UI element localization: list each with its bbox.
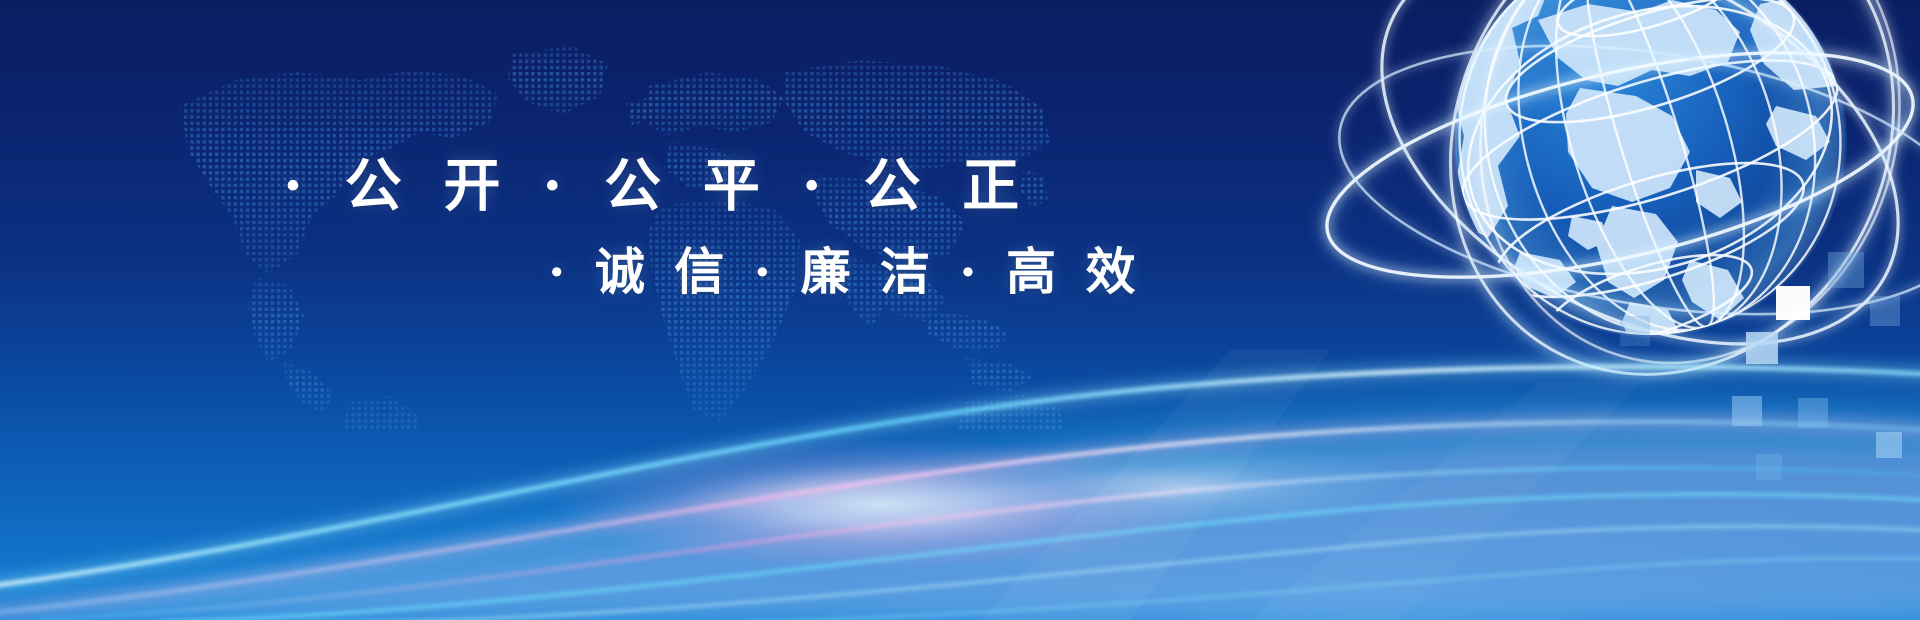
slogan-block: · 公 开 · 公 平 · 公 正 · 诚 信 · 廉 洁 · 高 效: [0, 0, 1160, 400]
slogan-line-2: · 诚 信 · 廉 洁 · 高 效: [548, 232, 1141, 304]
hero-banner: · 公 开 · 公 平 · 公 正 · 诚 信 · 廉 洁 · 高 效: [0, 0, 1920, 620]
square-7: [1876, 432, 1902, 458]
square-3: [1828, 252, 1864, 288]
wireframe-globe: [1220, 0, 1920, 490]
slogan-line-1: · 公 开 · 公 平 · 公 正: [283, 140, 1030, 222]
square-5: [1732, 396, 1762, 426]
square-4: [1870, 296, 1900, 326]
square-9: [1620, 316, 1650, 346]
square-2: [1746, 332, 1778, 364]
pixel-squares-decoration: [1580, 250, 1920, 480]
square-1: [1776, 286, 1810, 320]
square-8: [1756, 454, 1782, 480]
square-6: [1798, 398, 1828, 428]
